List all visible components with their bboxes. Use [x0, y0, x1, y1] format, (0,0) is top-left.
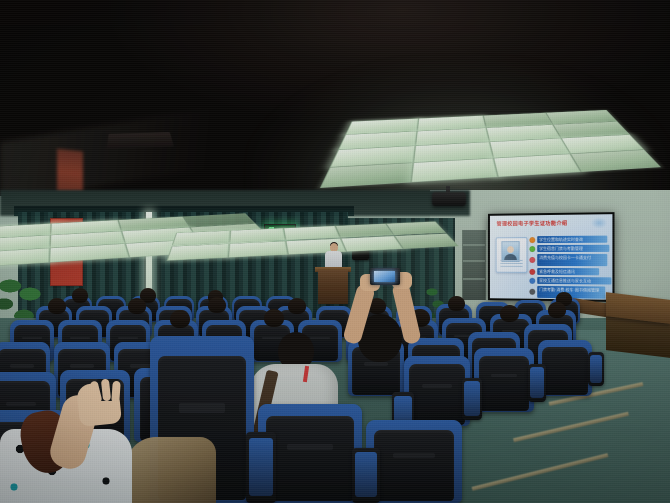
seat[interactable] — [366, 420, 462, 503]
finger — [111, 381, 121, 404]
equipment-rack — [462, 230, 486, 300]
seat-armrest[interactable] — [588, 352, 604, 386]
slide-surface: 管理校园电子学生证功能介绍 学生位置和轨迹实时查询 学生宿舍门禁与考勤管理 — [490, 214, 613, 300]
lecture-hall-photo: 团结进取 求实创新 严谨治学 追求卓越 安全出口 管理校园电子学生证功能介绍 — [0, 0, 670, 503]
audience-head — [448, 296, 465, 311]
seat[interactable] — [474, 348, 534, 412]
seat-armrest[interactable] — [352, 448, 380, 503]
projector-icon — [432, 192, 466, 206]
seat-armrest[interactable] — [462, 378, 482, 420]
air-vent-icon — [107, 132, 174, 149]
audience-head — [48, 298, 66, 314]
seat-armrest[interactable] — [246, 432, 276, 503]
audience-head — [500, 305, 519, 322]
audience-member-foreground-woman — [0, 385, 160, 503]
audience-head — [208, 297, 226, 313]
audience-head — [264, 309, 284, 327]
projection-screen: 管理校园电子学生证功能介绍 学生位置和轨迹实时查询 学生宿舍门禁与考勤管理 — [488, 212, 614, 302]
camera-icon — [370, 268, 400, 285]
seat-armrest[interactable] — [528, 364, 546, 402]
audience-head — [288, 298, 306, 314]
seat[interactable] — [538, 340, 592, 396]
slide-logo-icon — [591, 217, 607, 228]
camera-lcd-screen — [374, 271, 395, 282]
screen-glare — [490, 214, 584, 300]
lectern — [318, 270, 348, 304]
audience-head — [170, 310, 190, 328]
audience-head — [128, 298, 146, 314]
audience-head — [548, 302, 566, 318]
audience-head — [72, 288, 88, 303]
draped-coat — [126, 437, 216, 503]
